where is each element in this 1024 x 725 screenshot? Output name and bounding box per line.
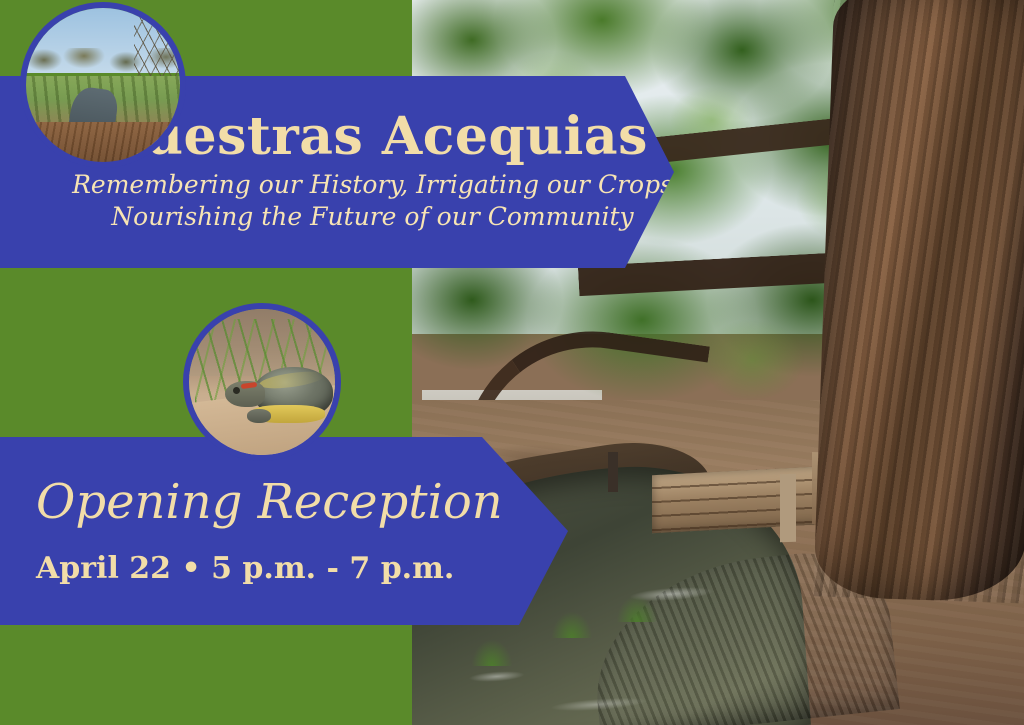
photo-headgate-post [608, 452, 618, 492]
field-bare-tree [134, 12, 182, 84]
event-headline: Opening Reception [36, 478, 506, 526]
photo-headgate-post [780, 474, 796, 543]
subtitle-line-2: Nourishing the Future of our Community [72, 201, 673, 233]
photo-weed [617, 596, 657, 622]
turtle-front-leg [247, 409, 271, 423]
event-banner: Opening Reception April 22 • 5 p.m. - 7 … [0, 437, 568, 625]
circle-photo-turtle [183, 303, 341, 461]
photo-cottonwood-bark-texture [813, 0, 1024, 603]
field-mud-texture [26, 122, 180, 162]
subtitle-line-1: Remembering our History, Irrigating our … [72, 170, 673, 199]
event-poster: Nuestras Acequias Remembering our Histor… [0, 0, 1024, 725]
subtitle: Remembering our History, Irrigating our … [72, 169, 673, 233]
event-dateline: April 22 • 5 p.m. - 7 p.m. [36, 554, 506, 584]
photo-weed [552, 612, 592, 638]
photo-weed [472, 640, 512, 666]
event-banner-content: Opening Reception April 22 • 5 p.m. - 7 … [36, 437, 506, 625]
circle-photo-field [20, 2, 186, 168]
turtle-eye [233, 387, 240, 394]
